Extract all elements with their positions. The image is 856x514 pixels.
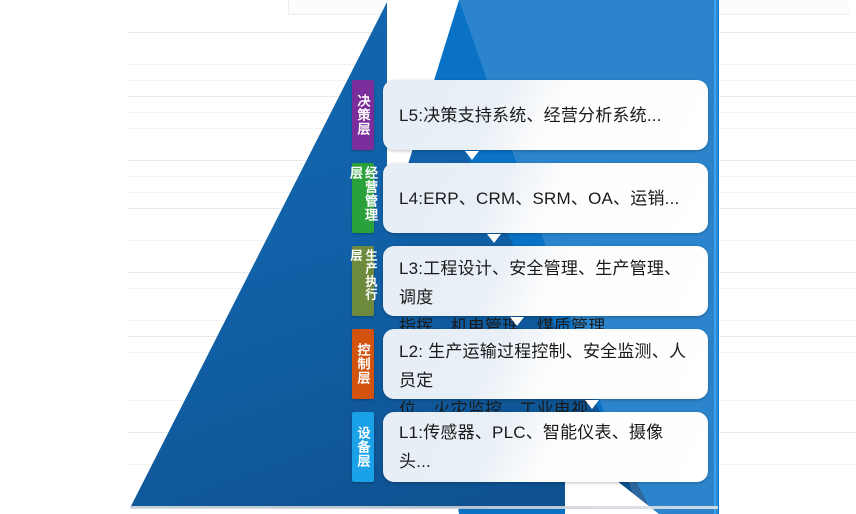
level-tab-l2[interactable]: 控制层 [352, 329, 374, 399]
level-card-l4[interactable]: L4:ERP、CRM、SRM、OA、运销... [383, 163, 708, 233]
step-marker-l5 [465, 151, 479, 160]
level-row-l5: 决策层 L5:决策支持系统、经营分析系统... [352, 80, 718, 150]
level-text-l1-line1: L1:传感器、PLC、智能仪表、摄像头... [399, 418, 692, 476]
level-card-l3[interactable]: L3:工程设计、安全管理、生产管理、调度 指挥、机电管理、煤质管理... [383, 246, 708, 316]
step-marker-l4 [487, 234, 501, 243]
level-tab-l5[interactable]: 决策层 [352, 80, 374, 150]
level-rows: 决策层 L5:决策支持系统、经营分析系统... 经营管理层 L4:ERP、CRM… [0, 0, 856, 514]
level-row-l3: 生产执行层 L3:工程设计、安全管理、生产管理、调度 指挥、机电管理、煤质管理.… [352, 246, 718, 316]
level-tab-l4[interactable]: 经营管理层 [352, 163, 374, 233]
level-row-l4: 经营管理层 L4:ERP、CRM、SRM、OA、运销... [352, 163, 718, 233]
level-card-l5[interactable]: L5:决策支持系统、经营分析系统... [383, 80, 708, 150]
level-card-l2[interactable]: L2: 生产运输过程控制、安全监测、人员定 位、火灾监控、工业电视... [383, 329, 708, 399]
level-text-l3-line1: L3:工程设计、安全管理、生产管理、调度 [399, 254, 692, 312]
diagram-canvas: 决策层 L5:决策支持系统、经营分析系统... 经营管理层 L4:ERP、CRM… [0, 0, 856, 514]
level-card-l1[interactable]: L1:传感器、PLC、智能仪表、摄像头... [383, 412, 708, 482]
step-marker-l2 [585, 400, 599, 409]
level-row-l1: 设备层 L1:传感器、PLC、智能仪表、摄像头... [352, 412, 718, 482]
level-text-l4-line1: L4:ERP、CRM、SRM、OA、运销... [399, 184, 679, 213]
level-text-l5-line1: L5:决策支持系统、经营分析系统... [399, 101, 662, 130]
level-text-l2-line1: L2: 生产运输过程控制、安全监测、人员定 [399, 337, 692, 395]
level-tab-l3[interactable]: 生产执行层 [352, 246, 374, 316]
step-marker-l3 [510, 317, 524, 326]
level-row-l2: 控制层 L2: 生产运输过程控制、安全监测、人员定 位、火灾监控、工业电视... [352, 329, 718, 399]
level-tab-l1[interactable]: 设备层 [352, 412, 374, 482]
